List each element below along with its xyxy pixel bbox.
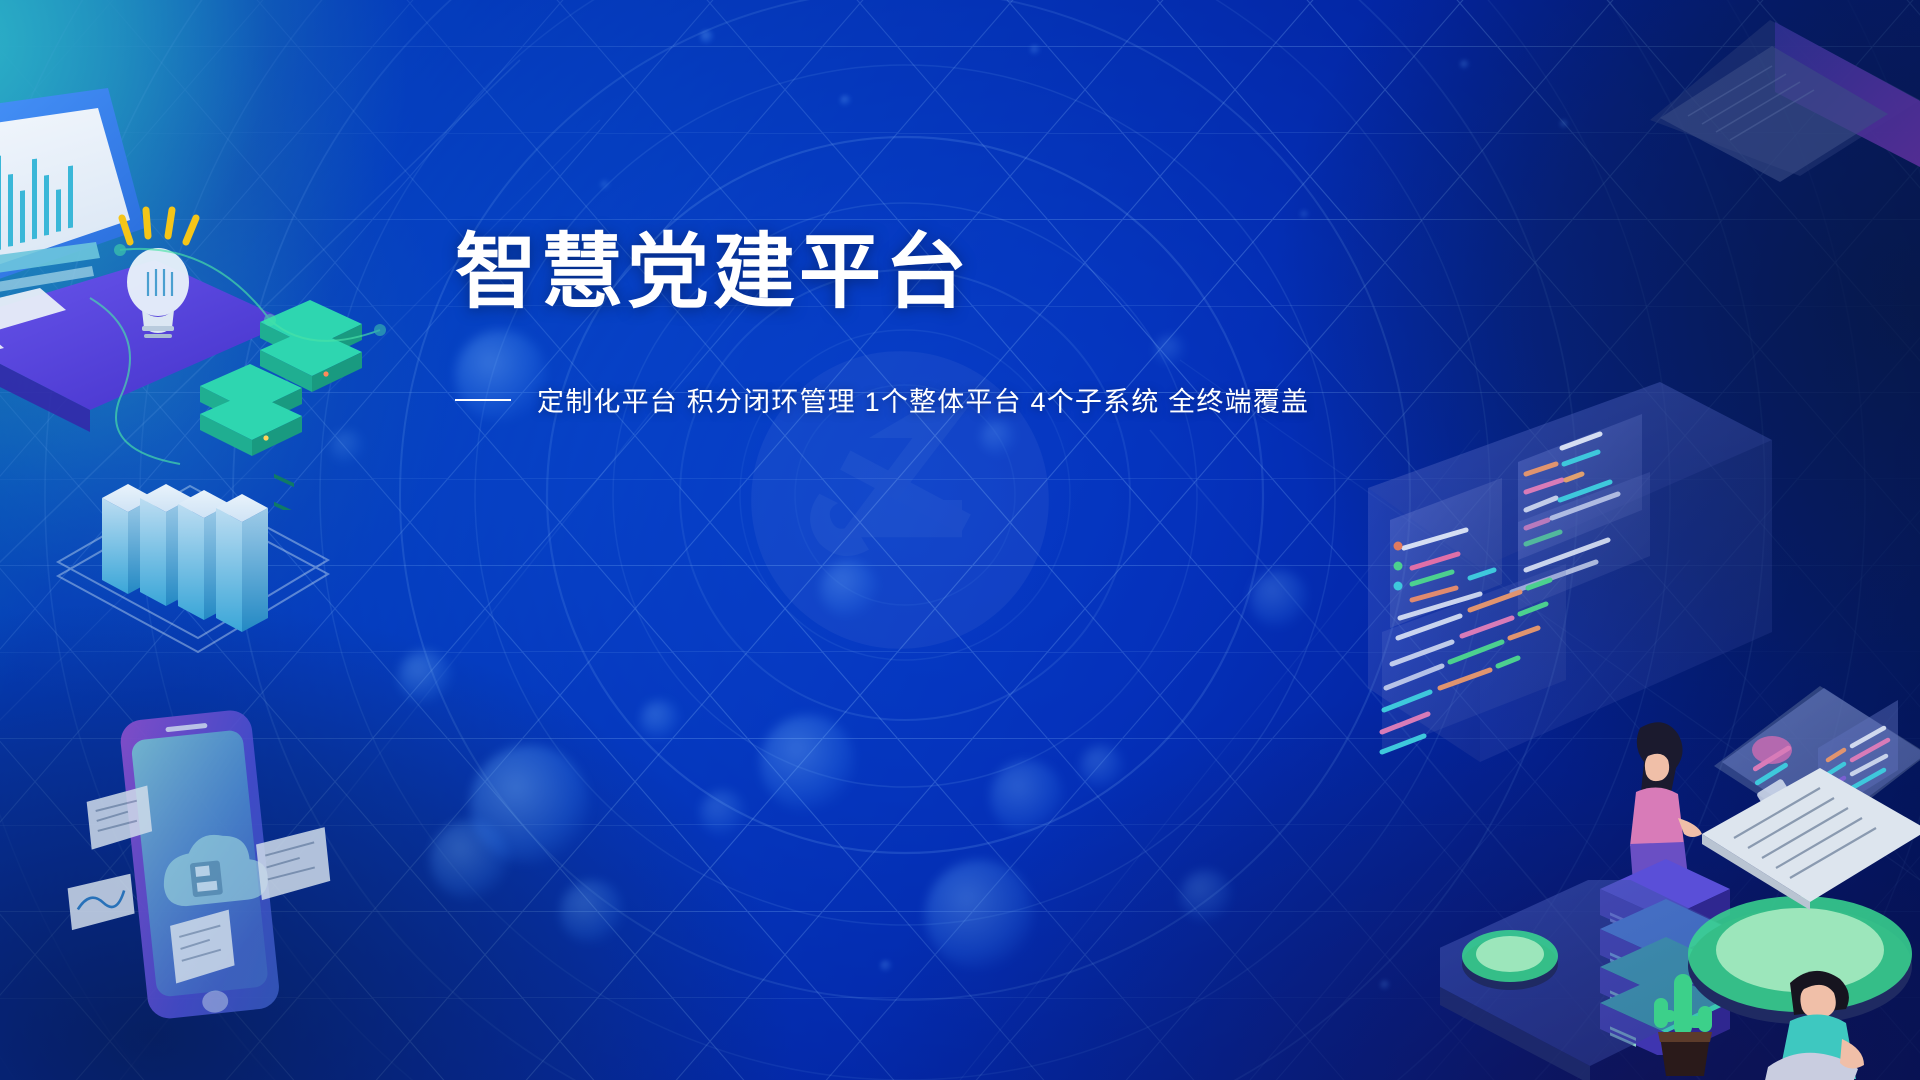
- open-laptop-dark: [1630, 0, 1920, 230]
- banner-subtitle-row: 定制化平台 积分闭环管理 1个整体平台 4个子系统 全终端覆盖: [455, 380, 1309, 419]
- large-data-dashboard-screen: [1360, 370, 1780, 790]
- desk-slab: [0, 260, 290, 432]
- left-illustration-group: [0, 60, 390, 510]
- dashboard-panel: [1390, 478, 1502, 628]
- laptop-screen-content: [1752, 700, 1898, 820]
- lightbulb-rays: [122, 210, 196, 242]
- file-icon: [190, 860, 223, 897]
- green-circuit-traces: [90, 244, 386, 464]
- floating-document-cards: [58, 768, 339, 994]
- page-title: 智慧党建平台: [455, 232, 1309, 314]
- server-rack-tower: [1580, 855, 1770, 1055]
- potted-cactus-plant: [1630, 960, 1740, 1080]
- person-with-laptop: [1750, 955, 1920, 1080]
- idea-lightbulb: [122, 210, 196, 338]
- banner-subtitle: 定制化平台 积分闭环管理 1个整体平台 4个子系统 全终端覆盖: [537, 380, 1309, 419]
- platform-ring-small: [1462, 930, 1558, 990]
- cactus-icon: [1654, 974, 1712, 1036]
- circular-glowing-platforms: [1440, 880, 1920, 1080]
- dashboard-panel: [1518, 414, 1642, 560]
- person-presenting-at-dashboard: [1592, 710, 1722, 910]
- platform-ring-large: [1688, 896, 1912, 1024]
- monitor-bar-chart: [0, 156, 73, 271]
- banner-text-block: 智慧党建平台 定制化平台 积分闭环管理 1个整体平台 4个子系统 全终端覆盖: [455, 232, 1309, 419]
- isometric-3d-bar-chart: [40, 390, 370, 690]
- banner-stage: 智慧党建平台 定制化平台 积分闭环管理 1个整体平台 4个子系统 全终端覆盖: [0, 0, 1920, 1080]
- network-switch-stack: [200, 300, 362, 510]
- desktop-monitor: [0, 88, 145, 374]
- smartphone-cloud-storage: [40, 690, 370, 1080]
- cloud-icon: [159, 830, 270, 909]
- dashboard-panel: [1512, 472, 1650, 610]
- dashboard-panel: [1382, 564, 1566, 752]
- subtitle-dash-rule: [455, 399, 511, 401]
- open-laptop-with-dashboard: [1700, 670, 1920, 910]
